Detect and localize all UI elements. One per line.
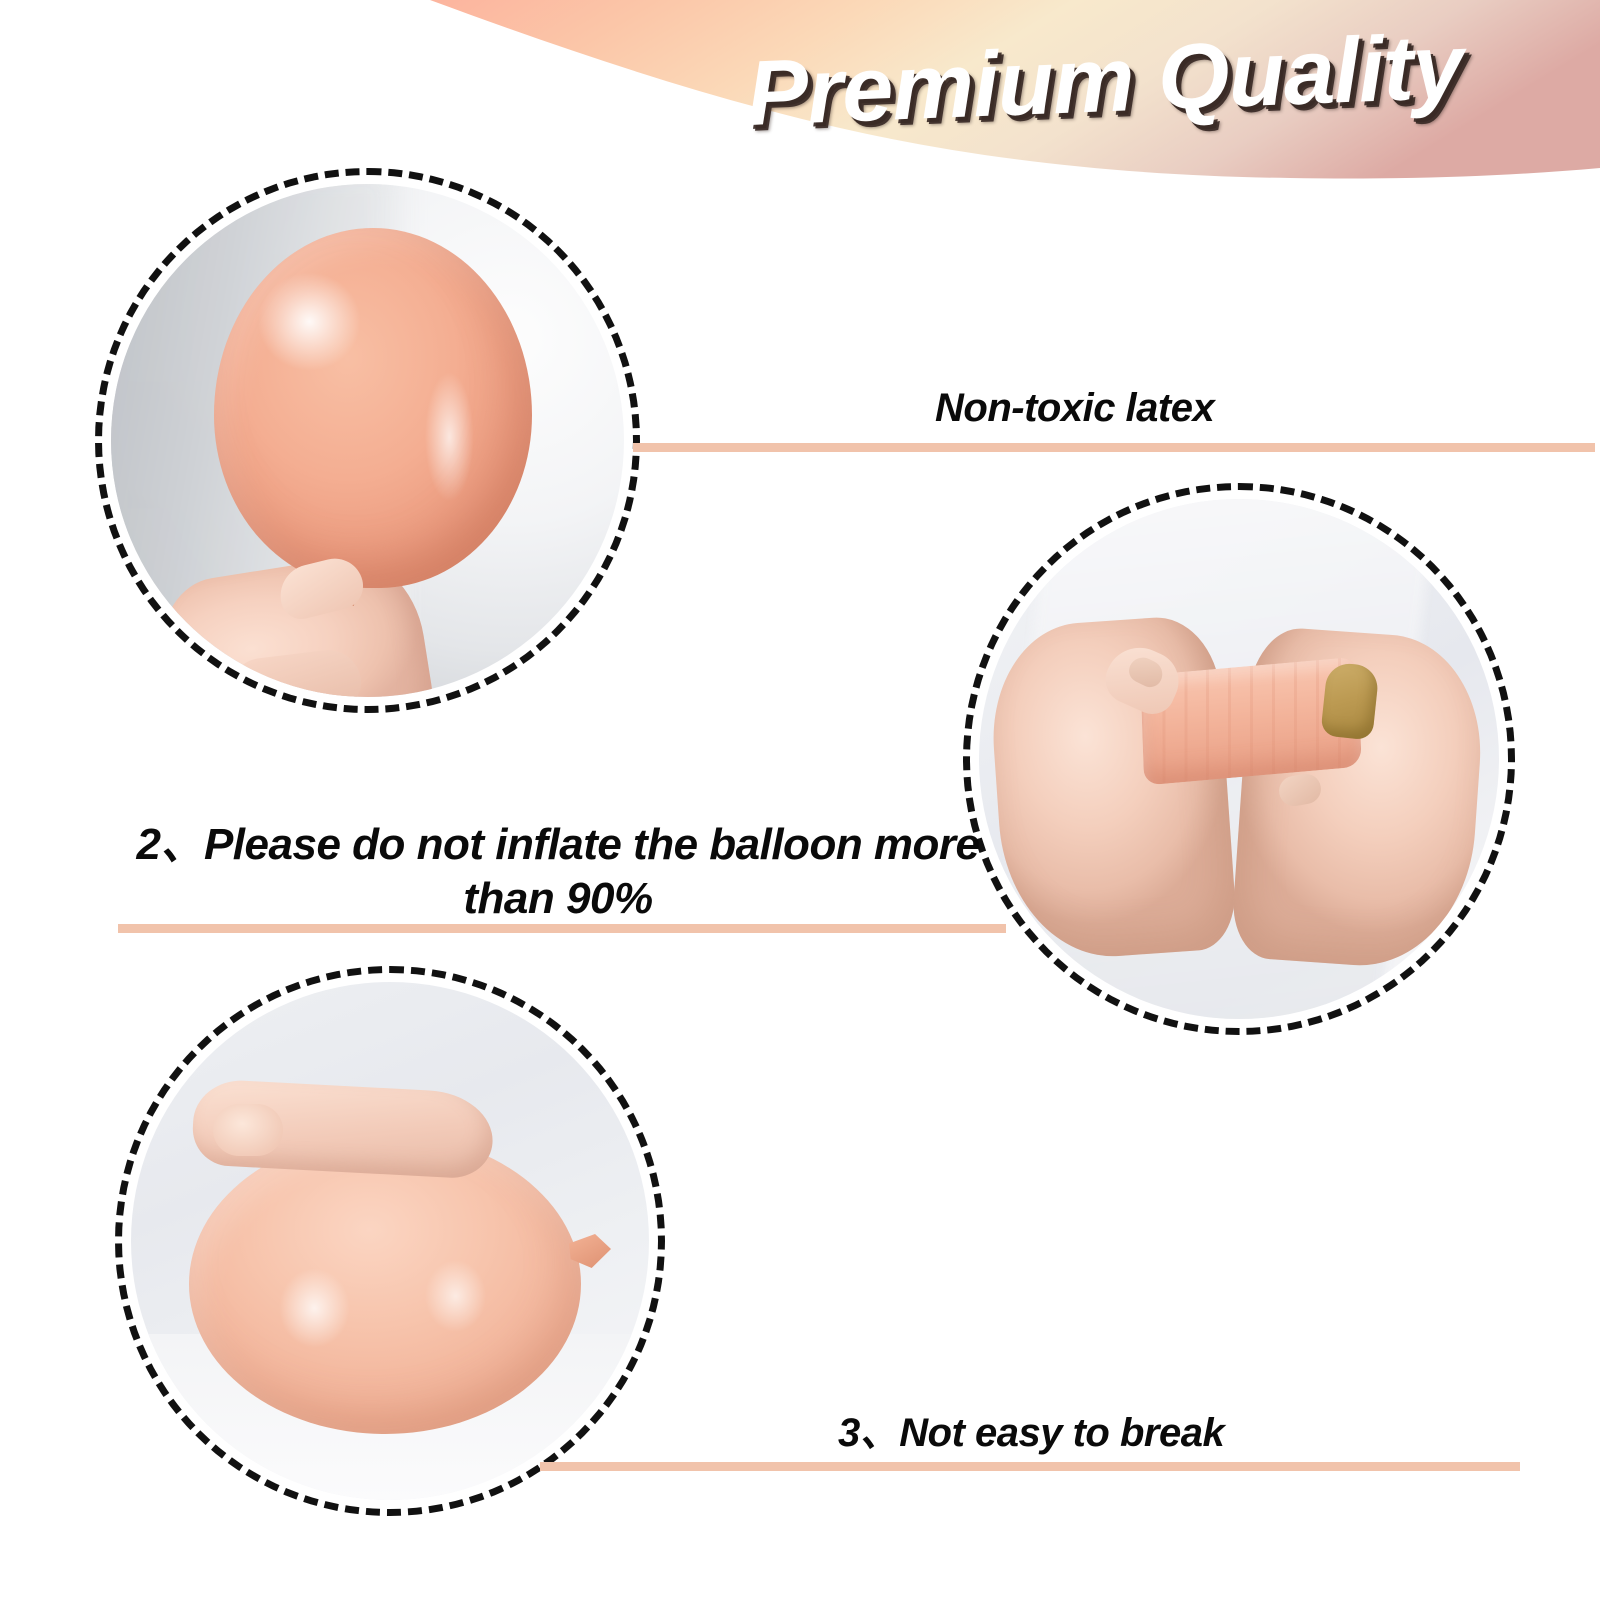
caption-line-2: than 90% — [108, 872, 1008, 926]
feature-photo-inflate-limit — [963, 483, 1515, 1035]
feature-photo-non-toxic-latex — [95, 168, 640, 713]
connector-line-3 — [540, 1462, 1520, 1471]
knuckle-illustration — [213, 1104, 283, 1156]
feature-caption-non-toxic-latex: Non-toxic latex — [935, 386, 1214, 431]
feature-photo-not-easy-to-break — [115, 966, 665, 1516]
balloon-inflated-rosegold — [214, 228, 532, 588]
feature-caption-not-easy-to-break: 3、Not easy to break — [838, 1400, 1224, 1458]
photo-clip — [111, 184, 624, 697]
photo-clip — [979, 499, 1499, 1019]
photo-clip — [131, 982, 649, 1500]
connector-line-2 — [118, 924, 1006, 933]
product-feature-infographic: Premium Quality Non-toxic latex 2、Please… — [0, 0, 1600, 1600]
connector-line-1 — [633, 443, 1595, 452]
gold-finger-cot-illustration — [1320, 661, 1379, 740]
balloon-compressed-peach — [189, 1134, 581, 1434]
feature-caption-inflate-limit: 2、Please do not inflate the balloon more… — [108, 818, 1008, 925]
caption-line-1: 2、Please do not inflate the balloon more — [136, 820, 979, 869]
